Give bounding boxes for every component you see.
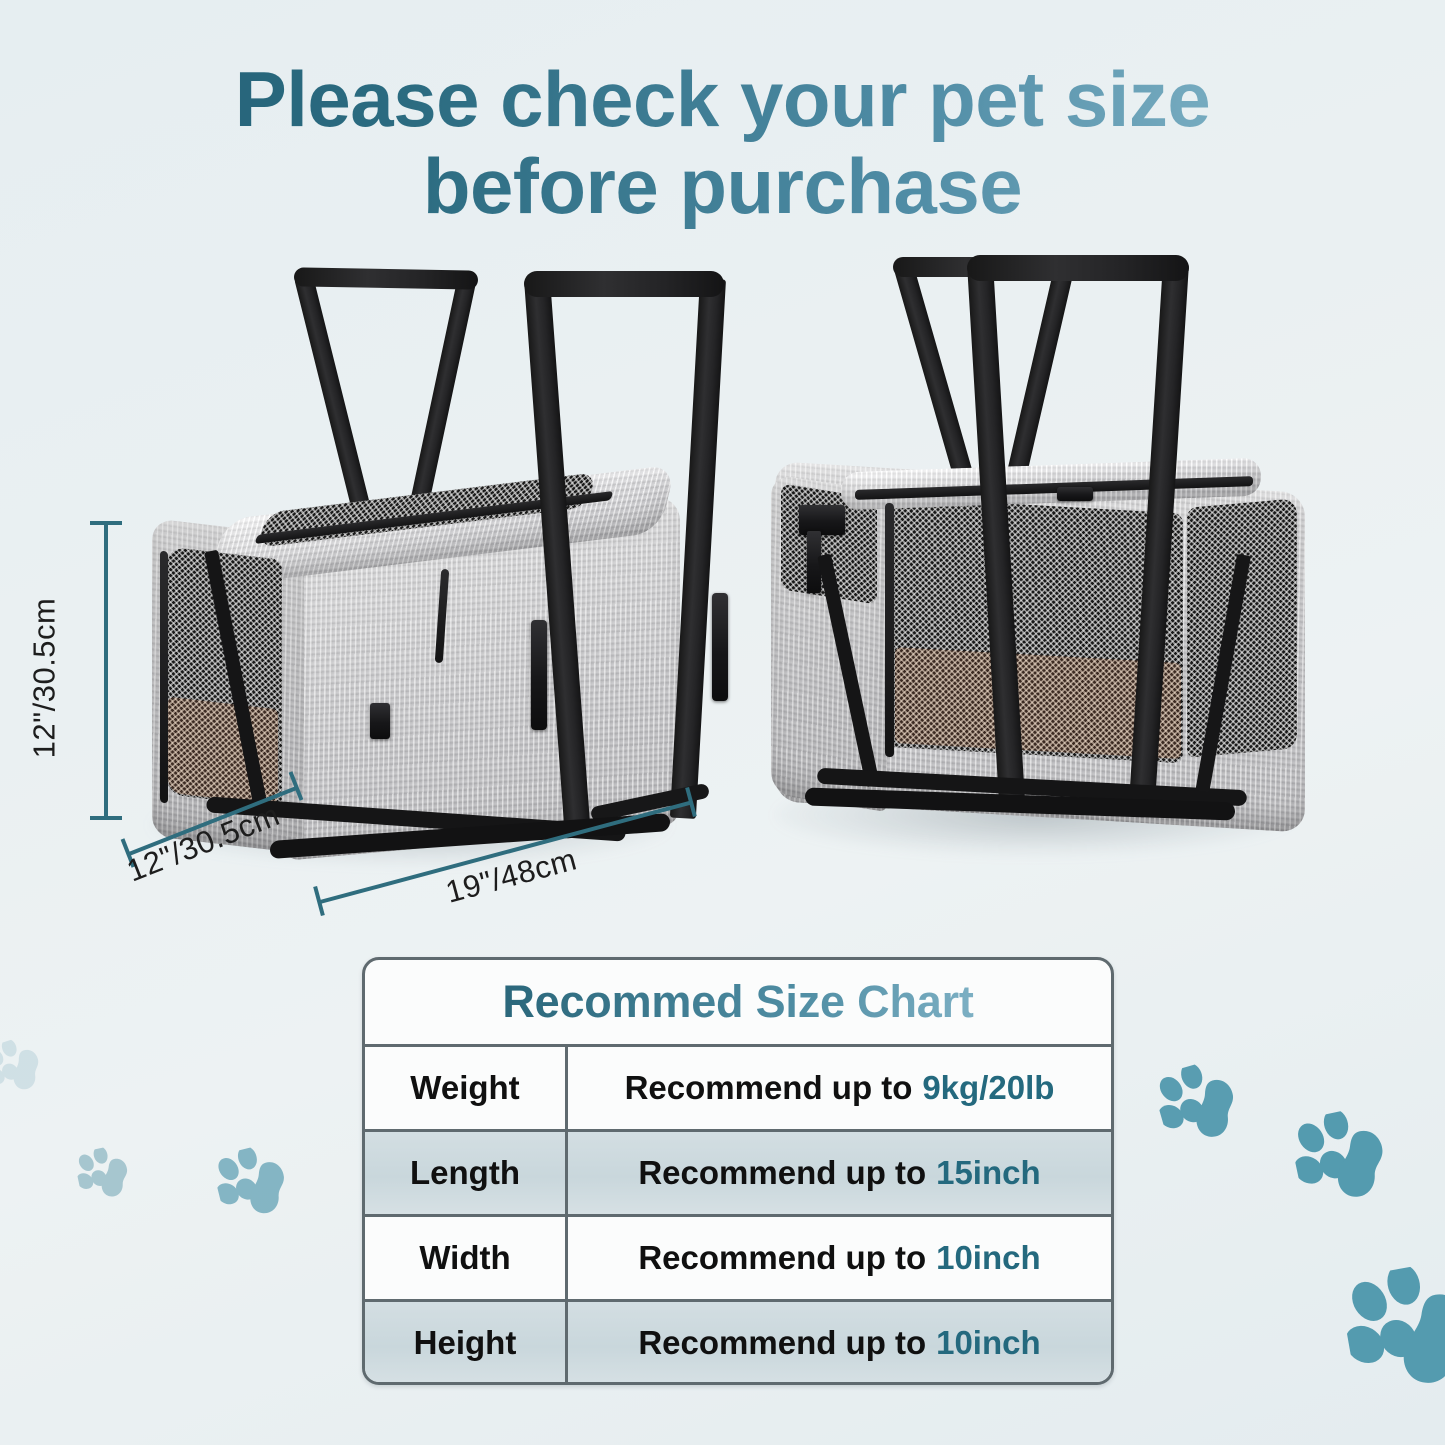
table-row: Width Recommend up to 10inch (365, 1214, 1111, 1299)
table-row: Weight Recommend up to 9kg/20lb (365, 1044, 1111, 1129)
product-infographic-page: Please check your pet size before purcha… (0, 0, 1445, 1445)
paw-print-icon (1337, 1258, 1445, 1410)
paw-print-icon (0, 1033, 50, 1105)
handle-strap-rear-arc (294, 267, 478, 289)
row-value-highlight: 10inch (936, 1324, 1041, 1362)
pet-carrier-right-image (745, 255, 1345, 875)
paw-print-icon (1287, 1104, 1397, 1219)
shoulder-strap-adjuster (370, 703, 390, 739)
row-value-prefix: Recommend up to (638, 1154, 926, 1192)
table-row: Height Recommend up to 10inch (365, 1299, 1111, 1384)
pet-carrier-left-image (120, 255, 720, 875)
row-key-width: Width (365, 1217, 568, 1299)
row-value-height: Recommend up to 10inch (568, 1302, 1111, 1384)
paw-print-icon (210, 1141, 296, 1232)
side-window-zipper (160, 551, 168, 804)
row-value-length: Recommend up to 15inch (568, 1132, 1111, 1214)
page-title: Please check your pet size before purcha… (0, 56, 1445, 231)
table-row: Length Recommend up to 15inch (365, 1129, 1111, 1214)
row-value-prefix: Recommend up to (638, 1324, 926, 1362)
top-zipper-pull (1057, 487, 1093, 501)
size-chart-title: Recommed Size Chart (365, 960, 1111, 1044)
row-value-prefix: Recommend up to (625, 1069, 913, 1107)
row-key-weight: Weight (365, 1047, 568, 1129)
side-release-buckle (799, 505, 845, 535)
height-dimension-line (104, 522, 108, 820)
handle-strap-front-arc (524, 271, 724, 297)
height-dimension-label: 12"/30.5cm (26, 598, 62, 759)
row-value-weight: Recommend up to 9kg/20lb (568, 1047, 1111, 1129)
right-side-mesh-panel (1187, 498, 1297, 758)
paw-print-icon (1150, 1056, 1248, 1158)
paw-print-icon (73, 1143, 136, 1209)
row-key-length: Length (365, 1132, 568, 1214)
row-value-highlight: 9kg/20lb (922, 1069, 1054, 1107)
recommended-size-chart: Recommed Size Chart Weight Recommend up … (362, 957, 1114, 1385)
front-panel-zipper (885, 503, 894, 757)
height-dimension-cap-top (90, 521, 122, 525)
handle-strap-front-arc (967, 255, 1189, 281)
headline-line-1: Please check your pet size (235, 55, 1211, 143)
front-clip-buckle-right (712, 593, 728, 701)
row-key-height: Height (365, 1302, 568, 1384)
row-value-highlight: 15inch (936, 1154, 1041, 1192)
row-value-highlight: 10inch (936, 1239, 1041, 1277)
row-value-width: Recommend up to 10inch (568, 1217, 1111, 1299)
headline-line-2: before purchase (0, 143, 1445, 230)
front-clip-buckle-left (531, 620, 547, 730)
height-dimension-cap-bottom (90, 816, 122, 820)
row-value-prefix: Recommend up to (638, 1239, 926, 1277)
